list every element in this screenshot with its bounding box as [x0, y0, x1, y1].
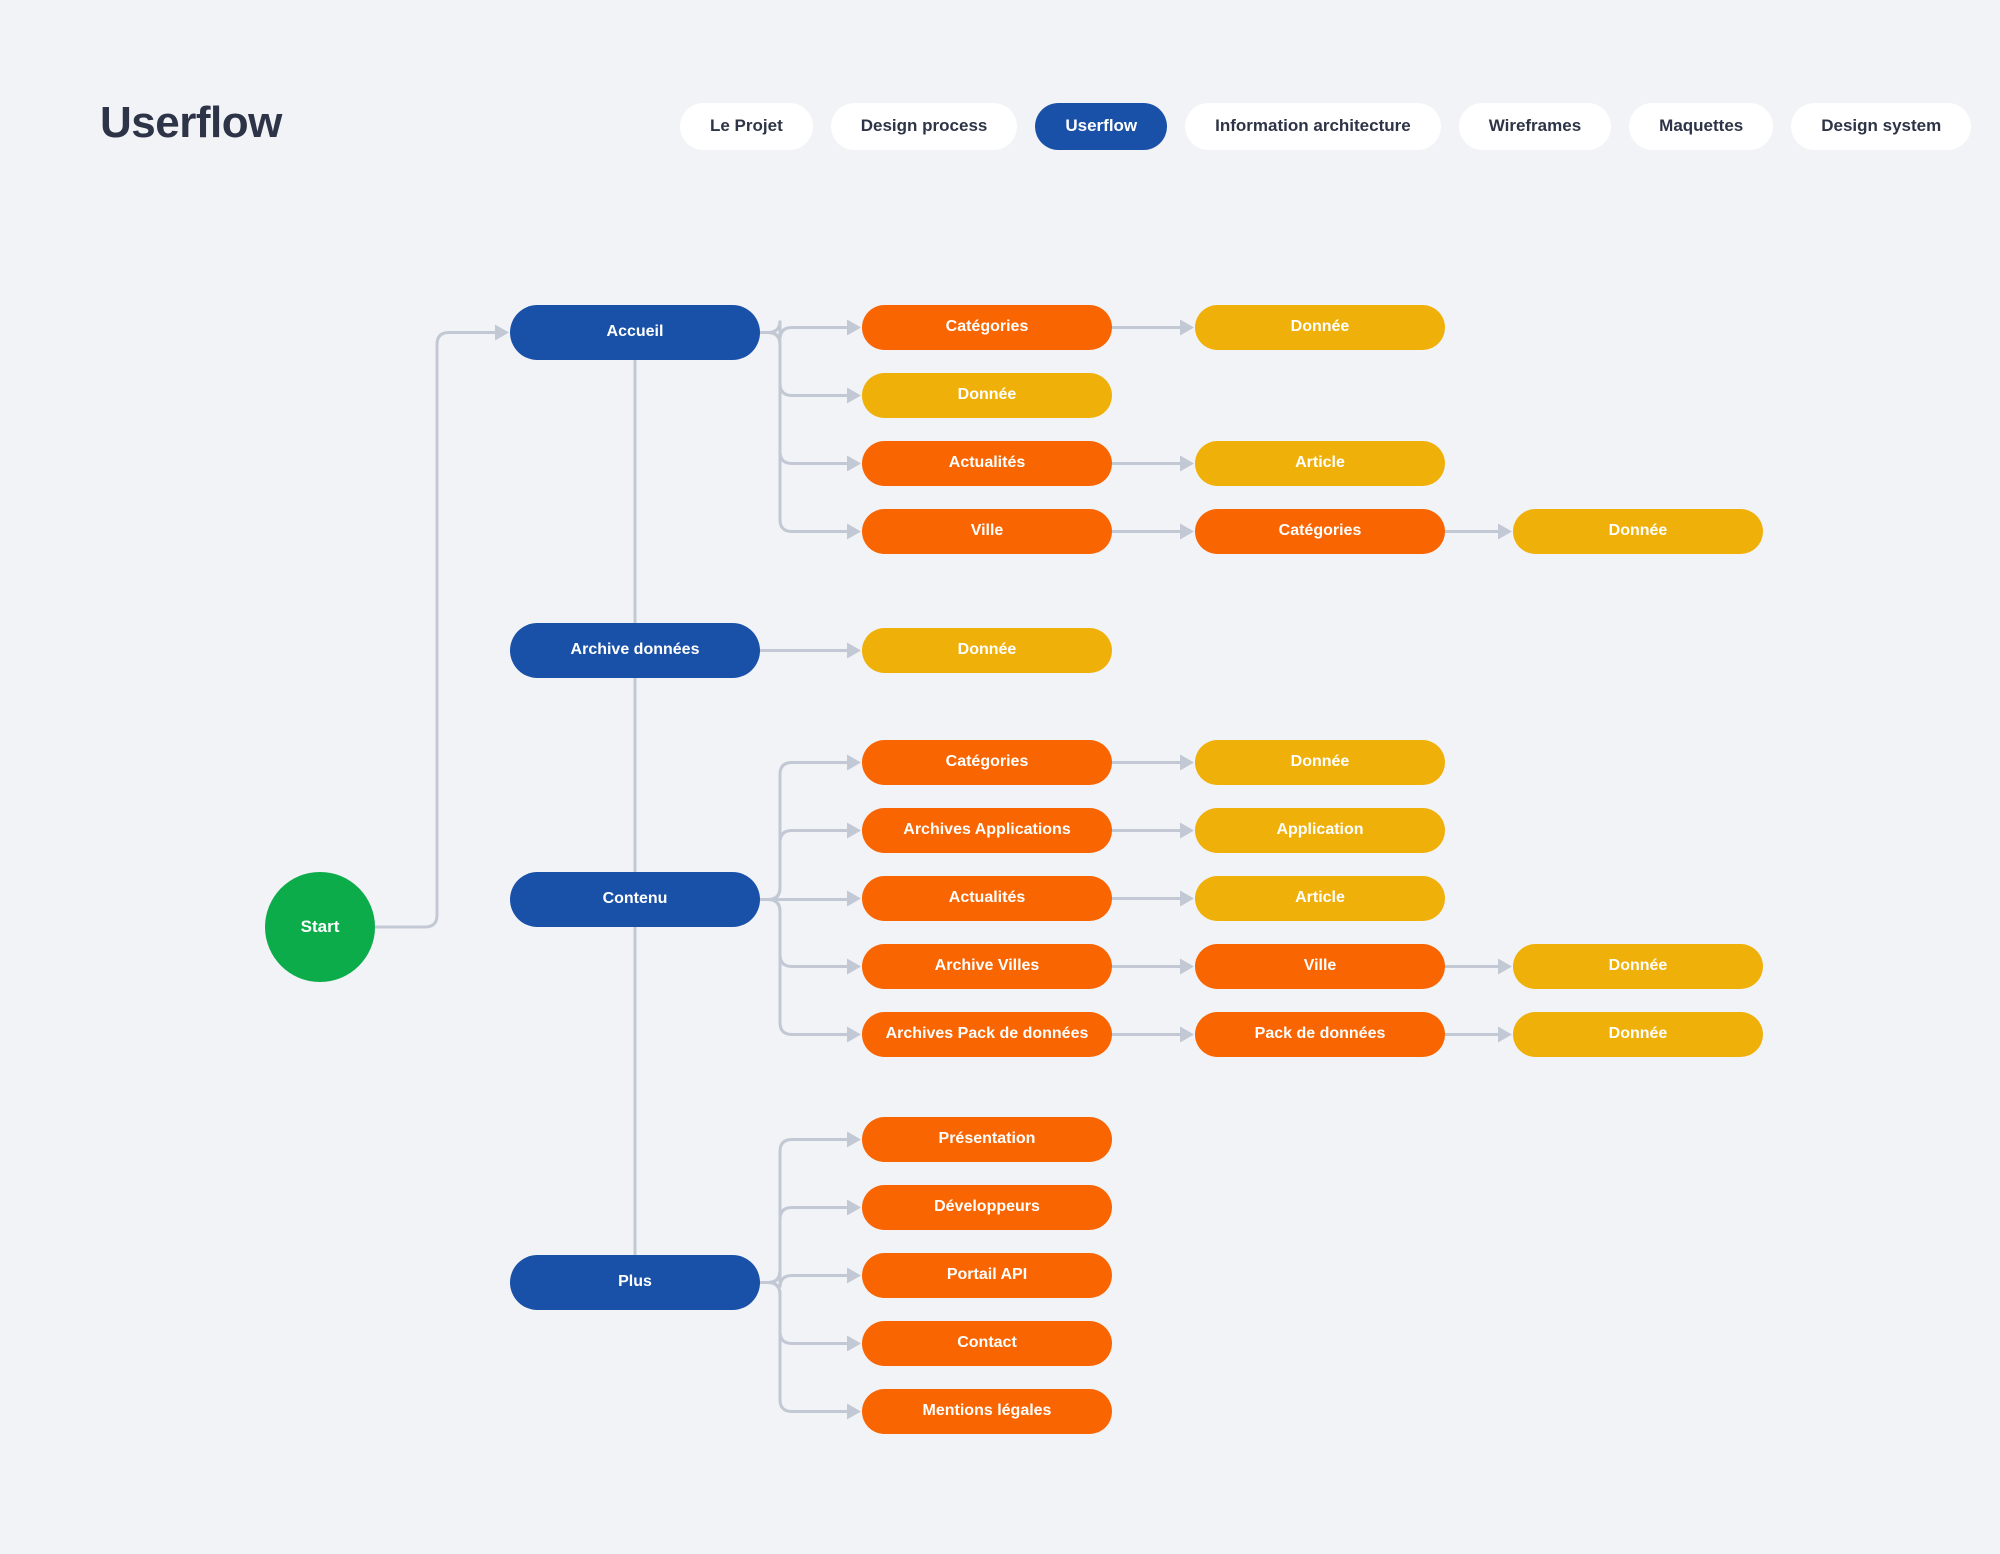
connector-line — [760, 900, 848, 967]
flow-node-a4d[interactable]: Donnée — [1513, 509, 1763, 554]
connector-arrowhead — [847, 959, 861, 975]
connector-arrowhead — [847, 643, 861, 659]
connector-arrowhead — [847, 823, 861, 839]
flow-node-c4[interactable]: Archive Villes — [862, 944, 1112, 989]
connector-arrowhead — [1498, 524, 1512, 540]
flow-node-c4d[interactable]: Donnée — [1513, 944, 1763, 989]
flow-node-a4c[interactable]: Catégories — [1195, 509, 1445, 554]
connector-arrowhead — [847, 1404, 861, 1420]
connector-line — [760, 333, 848, 532]
flow-node-a3[interactable]: Actualités — [862, 441, 1112, 486]
flow-node-c3d[interactable]: Article — [1195, 876, 1445, 921]
connector-arrowhead — [1180, 755, 1194, 771]
connector-arrowhead — [495, 325, 509, 341]
connector-arrowhead — [1180, 959, 1194, 975]
connector-line — [760, 1140, 848, 1283]
userflow-page: Userflow Le ProjetDesign processUserflow… — [0, 0, 2000, 1554]
connector-arrowhead — [1498, 1027, 1512, 1043]
flow-node-c5d[interactable]: Donnée — [1513, 1012, 1763, 1057]
flow-node-a4[interactable]: Ville — [862, 509, 1112, 554]
connector-arrowhead — [847, 1200, 861, 1216]
connector-arrowhead — [847, 1336, 861, 1352]
flow-node-plus[interactable]: Plus — [510, 1255, 760, 1310]
flow-canvas: StartAccueilCatégoriesDonnéeDonnéeActual… — [0, 0, 2000, 1554]
flow-node-a3d[interactable]: Article — [1195, 441, 1445, 486]
connector-line — [760, 831, 848, 900]
flow-node-p5[interactable]: Mentions légales — [862, 1389, 1112, 1434]
connector-line — [375, 333, 496, 928]
connector-line — [760, 1283, 848, 1412]
connector-line — [760, 333, 848, 464]
connector-arrowhead — [847, 320, 861, 336]
connector-arrowhead — [1180, 524, 1194, 540]
flow-node-c1[interactable]: Catégories — [862, 740, 1112, 785]
connector-line — [760, 321, 848, 340]
flow-node-c2d[interactable]: Application — [1195, 808, 1445, 853]
connector-arrowhead — [847, 456, 861, 472]
connector-arrowhead — [1180, 456, 1194, 472]
flow-node-p3[interactable]: Portail API — [862, 1253, 1112, 1298]
flow-node-c4v[interactable]: Ville — [1195, 944, 1445, 989]
connector-line — [760, 1271, 848, 1288]
flow-node-c1d[interactable]: Donnée — [1195, 740, 1445, 785]
flow-node-c5p[interactable]: Pack de données — [1195, 1012, 1445, 1057]
connector-arrowhead — [1180, 1027, 1194, 1043]
connector-arrowhead — [847, 755, 861, 771]
connector-line — [760, 333, 848, 396]
flow-node-a1[interactable]: Catégories — [862, 305, 1112, 350]
flow-node-p2[interactable]: Développeurs — [862, 1185, 1112, 1230]
connector-arrowhead — [1180, 891, 1194, 907]
connector-arrowhead — [847, 388, 861, 404]
connector-arrowhead — [847, 1027, 861, 1043]
flow-node-p1[interactable]: Présentation — [862, 1117, 1112, 1162]
flow-node-p4[interactable]: Contact — [862, 1321, 1112, 1366]
flow-node-start[interactable]: Start — [265, 872, 375, 982]
connector-arrowhead — [1180, 320, 1194, 336]
connector-arrowhead — [847, 891, 861, 907]
flow-node-ar1[interactable]: Donnée — [862, 628, 1112, 673]
connector-line — [760, 1208, 848, 1283]
connector-arrowhead — [1180, 823, 1194, 839]
flow-node-a2[interactable]: Donnée — [862, 373, 1112, 418]
flow-node-c5[interactable]: Archives Pack de données — [862, 1012, 1112, 1057]
flow-node-c3[interactable]: Actualités — [862, 876, 1112, 921]
flow-node-accueil[interactable]: Accueil — [510, 305, 760, 360]
flow-node-c2[interactable]: Archives Applications — [862, 808, 1112, 853]
connector-line — [760, 1283, 848, 1344]
connector-arrowhead — [847, 1132, 861, 1148]
flow-node-archive[interactable]: Archive données — [510, 623, 760, 678]
connector-arrowhead — [847, 1268, 861, 1284]
connector-arrowhead — [847, 524, 861, 540]
flow-node-contenu[interactable]: Contenu — [510, 872, 760, 927]
connector-arrowhead — [1498, 959, 1512, 975]
flow-node-a1d[interactable]: Donnée — [1195, 305, 1445, 350]
